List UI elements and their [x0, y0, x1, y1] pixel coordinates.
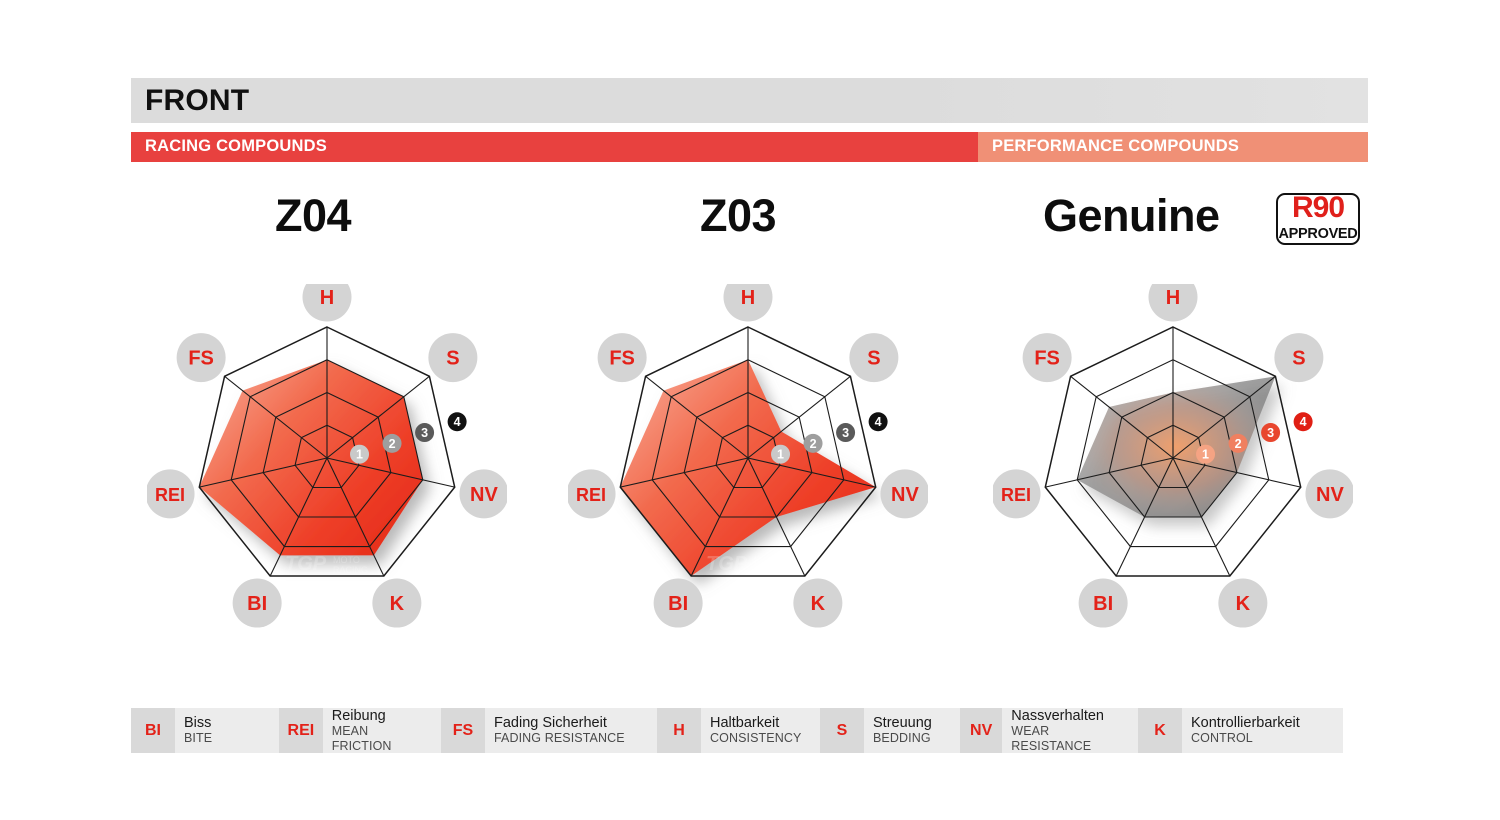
- ring-badge-label: 2: [1235, 437, 1242, 451]
- r90-badge-code: R90: [1278, 193, 1358, 223]
- radar-chart-z03: TGPMOTORACING1234HSNVKBIREIFS: [568, 284, 928, 654]
- axis-label-text: K: [811, 593, 826, 615]
- ring-badge-label: 4: [454, 415, 461, 429]
- ring-badge-label: 2: [389, 437, 396, 451]
- ring-badge-1: 1: [771, 445, 790, 464]
- axis-label-text: FS: [188, 348, 214, 370]
- datasheet-page: FRONT RACING COMPOUNDS PERFORMANCE COMPO…: [0, 0, 1500, 820]
- legend-term-de: Streuung: [873, 715, 932, 731]
- axis-label-fs: FS: [1023, 333, 1072, 382]
- legend-item-h: HHaltbarkeitCONSISTENCY: [657, 708, 820, 753]
- ring-badge-label: 3: [842, 426, 849, 440]
- ring-badge-label: 3: [1267, 426, 1274, 440]
- axis-label-rei: REI: [568, 469, 616, 518]
- axis-label-bi: BI: [1079, 579, 1128, 628]
- axis-label-text: H: [741, 287, 755, 309]
- axis-label-fs: FS: [177, 333, 226, 382]
- legend-term-de: Reibung: [332, 708, 431, 724]
- r90-badge-approved-label: APPROVED: [1278, 226, 1358, 242]
- axis-label-k: K: [372, 579, 421, 628]
- ring-badge-1: 1: [1196, 445, 1215, 464]
- legend-abbr-s: S: [820, 708, 864, 753]
- axis-label-text: S: [867, 348, 880, 370]
- tgp-watermark: TGPMOTORACING: [1131, 553, 1214, 575]
- axis-label-text: NV: [891, 484, 919, 506]
- legend-item-nv: NVNassverhaltenWEAR RESISTANCE: [960, 708, 1138, 753]
- legend-abbr-bi: BI: [131, 708, 175, 753]
- ring-badge-3: 3: [836, 423, 855, 442]
- legend-term-de: Biss: [184, 715, 212, 731]
- watermark-brand: TGP: [706, 553, 748, 575]
- axis-label-text: BI: [668, 593, 688, 615]
- legend-text-nv: NassverhaltenWEAR RESISTANCE: [1002, 708, 1138, 753]
- axis-label-s: S: [428, 333, 477, 382]
- legend-term-en: BITE: [184, 731, 212, 746]
- axis-label-bi: BI: [233, 579, 282, 628]
- axis-label-bi: BI: [654, 579, 703, 628]
- legend-abbr-k: K: [1138, 708, 1182, 753]
- compound-title-z04: Z04: [275, 190, 351, 242]
- ring-badge-2: 2: [1229, 434, 1248, 453]
- axis-label-text: K: [1236, 593, 1251, 615]
- legend-term-de: Nassverhalten: [1011, 708, 1128, 724]
- ring-badge-label: 2: [810, 437, 817, 451]
- axis-label-fs: FS: [598, 333, 647, 382]
- radar-grid: [620, 327, 875, 576]
- legend-term-de: Haltbarkeit: [710, 715, 801, 731]
- legend-term-en: CONSISTENCY: [710, 731, 801, 746]
- watermark-brand: TGP: [1131, 553, 1173, 575]
- ring-badge-4: 4: [869, 412, 888, 431]
- tgp-watermark: TGPMOTORACING: [706, 553, 789, 575]
- legend-text-fs: Fading SicherheitFADING RESISTANCE: [485, 708, 635, 753]
- legend-item-k: KKontrollierbarkeitCONTROL: [1138, 708, 1343, 753]
- legend-item-bi: BIBissBITE: [131, 708, 279, 753]
- legend-item-rei: REIReibungMEAN FRICTION: [279, 708, 441, 753]
- racing-compounds-segment: RACING COMPOUNDS: [131, 132, 978, 162]
- ring-badge-2: 2: [383, 434, 402, 453]
- legend-text-s: StreuungBEDDING: [864, 708, 942, 753]
- ring-badge-label: 1: [356, 448, 363, 462]
- axis-label-text: BI: [247, 593, 267, 615]
- ring-badge-4: 4: [448, 412, 467, 431]
- radar-grid: [1045, 327, 1300, 576]
- legend-item-s: SStreuungBEDDING: [820, 708, 960, 753]
- watermark-line-1: MOTO: [333, 555, 360, 565]
- compound-title-z03: Z03: [700, 190, 776, 242]
- legend-term-en: CONTROL: [1191, 731, 1300, 746]
- axis-label-k: K: [793, 579, 842, 628]
- legend-term-en: MEAN FRICTION: [332, 724, 431, 754]
- axis-label-text: NV: [470, 484, 498, 506]
- legend-abbr-fs: FS: [441, 708, 485, 753]
- legend-abbr-rei: REI: [279, 708, 323, 753]
- axis-label-text: NV: [1316, 484, 1344, 506]
- ring-badge-label: 1: [777, 448, 784, 462]
- legend-text-rei: ReibungMEAN FRICTION: [323, 708, 441, 753]
- axis-label-h: H: [303, 284, 352, 322]
- axis-label-nv: NV: [459, 469, 507, 518]
- legend-text-k: KontrollierbarkeitCONTROL: [1182, 708, 1310, 753]
- axis-label-text: S: [446, 348, 459, 370]
- legend-term-de: Fading Sicherheit: [494, 715, 625, 731]
- legend-abbr-nv: NV: [960, 708, 1002, 753]
- axis-label-rei: REI: [147, 469, 195, 518]
- legend-term-en: WEAR RESISTANCE: [1011, 724, 1128, 754]
- legend-term-en: FADING RESISTANCE: [494, 731, 625, 746]
- axis-label-nv: NV: [1305, 469, 1353, 518]
- page-title: FRONT: [145, 84, 249, 118]
- axis-label-text: REI: [1001, 485, 1031, 505]
- watermark-line-2: RACING: [1179, 565, 1214, 575]
- compound-category-bar: RACING COMPOUNDS PERFORMANCE COMPOUNDS: [131, 132, 1368, 162]
- axis-label-text: REI: [155, 485, 185, 505]
- compound-title-genuine: Genuine: [1043, 190, 1220, 242]
- axis-label-text: FS: [1034, 348, 1060, 370]
- tgp-watermark: TGPMOTORACING: [285, 553, 368, 575]
- ring-badge-4: 4: [1294, 412, 1313, 431]
- axis-label-text: S: [1292, 348, 1305, 370]
- legend-term-en: BEDDING: [873, 731, 932, 746]
- axis-label-h: H: [724, 284, 773, 322]
- radar-chart-genuine: TGPMOTORACING1234HSNVKBIREIFS: [993, 284, 1353, 654]
- axis-label-rei: REI: [993, 469, 1041, 518]
- legend-term-de: Kontrollierbarkeit: [1191, 715, 1300, 731]
- axis-label-text: H: [320, 287, 334, 309]
- radar-data-polygon: [199, 360, 423, 556]
- position-header-bar: FRONT: [131, 78, 1368, 123]
- axis-label-k: K: [1218, 579, 1267, 628]
- axis-label-h: H: [1149, 284, 1198, 322]
- watermark-brand: TGP: [285, 553, 327, 575]
- racing-compounds-label: RACING COMPOUNDS: [145, 137, 327, 156]
- ring-badge-2: 2: [804, 434, 823, 453]
- legend-strip: BIBissBITEREIReibungMEAN FRICTIONFSFadin…: [131, 708, 1343, 753]
- legend-text-h: HaltbarkeitCONSISTENCY: [701, 708, 811, 753]
- r90-approved-badge: R90 APPROVED: [1276, 193, 1360, 245]
- performance-compounds-label: PERFORMANCE COMPOUNDS: [992, 137, 1239, 156]
- ring-badge-label: 3: [421, 426, 428, 440]
- ring-badge-label: 1: [1202, 448, 1209, 462]
- axis-label-text: BI: [1093, 593, 1113, 615]
- ring-badge-3: 3: [415, 423, 434, 442]
- axis-label-s: S: [849, 333, 898, 382]
- axis-label-text: REI: [576, 485, 606, 505]
- axis-label-text: H: [1166, 287, 1180, 309]
- watermark-line-1: MOTO: [754, 555, 781, 565]
- axis-label-text: K: [390, 593, 405, 615]
- ring-badge-label: 4: [1300, 415, 1307, 429]
- axis-label-s: S: [1274, 333, 1323, 382]
- legend-abbr-h: H: [657, 708, 701, 753]
- axis-label-nv: NV: [880, 469, 928, 518]
- watermark-line-1: MOTO: [1179, 555, 1206, 565]
- ring-badge-1: 1: [350, 445, 369, 464]
- legend-text-bi: BissBITE: [175, 708, 222, 753]
- ring-badge-label: 4: [875, 415, 882, 429]
- ring-badge-3: 3: [1261, 423, 1280, 442]
- watermark-line-2: RACING: [754, 565, 789, 575]
- watermark-line-2: RACING: [333, 565, 368, 575]
- legend-item-fs: FSFading SicherheitFADING RESISTANCE: [441, 708, 657, 753]
- performance-compounds-segment: PERFORMANCE COMPOUNDS: [978, 132, 1368, 162]
- radar-chart-z04: TGPMOTORACING1234HSNVKBIREIFS: [147, 284, 507, 654]
- axis-label-text: FS: [609, 348, 635, 370]
